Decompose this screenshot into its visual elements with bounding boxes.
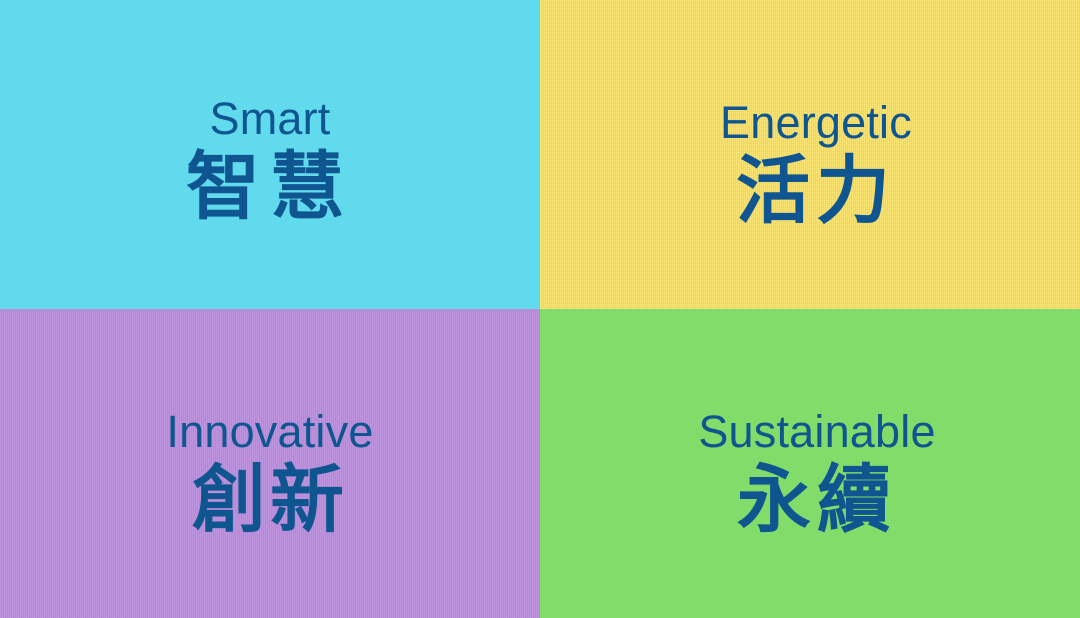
label-chinese-energetic: 活力 [552,152,1080,230]
label-block-smart: Smart 智慧 [0,96,540,226]
quadrant-energetic: Energetic 活力 [540,0,1080,309]
label-block-energetic: Energetic 活力 [552,100,1080,230]
quadrant-sustainable: Sustainable 永續 [540,309,1080,618]
quadrant-innovative: Innovative 創新 [0,309,540,618]
label-block-innovative: Innovative 創新 [0,409,540,539]
label-english-smart: Smart [0,96,540,141]
brand-values-quadrant-canvas: Smart 智慧 Energetic 活力 Innovative 創新 Sust… [0,0,1080,618]
label-chinese-sustainable: 永續 [554,461,1080,539]
label-block-sustainable: Sustainable 永續 [554,409,1080,539]
label-chinese-smart: 智慧 [0,148,540,226]
label-english-innovative: Innovative [0,409,540,454]
quadrant-smart: Smart 智慧 [0,0,540,309]
label-chinese-innovative: 創新 [0,461,540,539]
label-english-energetic: Energetic [552,100,1080,145]
label-english-sustainable: Sustainable [554,409,1080,454]
